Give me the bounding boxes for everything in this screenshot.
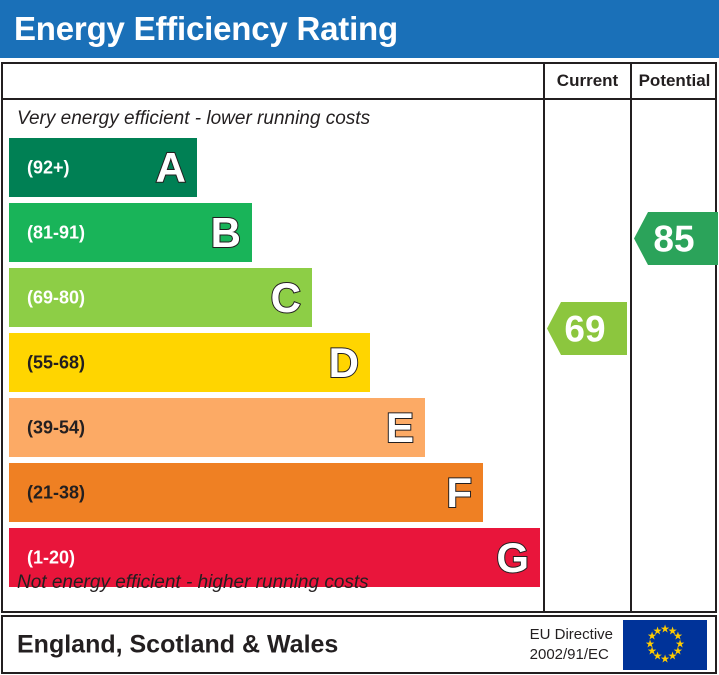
caption-top: Very energy efficient - lower running co… (17, 108, 370, 130)
footer-directive: EU Directive 2002/91/EC (530, 624, 613, 665)
eu-flag-icon: ★★★★★★★★★★★★ (623, 620, 707, 670)
energy-efficiency-rating-chart: Energy Efficiency Rating Current Potenti… (0, 0, 719, 675)
band-row-d: (55-68) D (9, 333, 370, 392)
band-row-a: (92+) A (9, 138, 197, 197)
potential-rating-value: 85 (634, 220, 714, 257)
current-rating-marker: 69 (547, 302, 627, 355)
chart-footer: England, Scotland & Wales EU Directive 2… (1, 615, 717, 674)
eu-flag-star: ★ (653, 626, 663, 637)
band-range-e: (39-54) (27, 417, 85, 438)
band-letter-g: G (496, 537, 529, 579)
band-row-e: (39-54) E (9, 398, 425, 457)
chart-title-bar: Energy Efficiency Rating (0, 0, 719, 58)
band-letter-f: F (446, 472, 472, 514)
caption-bottom: Not energy efficient - higher running co… (17, 572, 369, 594)
column-header-potential: Potential (632, 64, 717, 98)
band-range-c: (69-80) (27, 287, 85, 308)
footer-directive-line1: EU Directive (530, 624, 613, 644)
rating-table: Current Potential Very energy efficient … (1, 62, 717, 613)
band-row-b: (81-91) B (9, 203, 252, 262)
band-row-f: (21-38) F (9, 463, 483, 522)
footer-directive-line2: 2002/91/EC (530, 645, 613, 665)
page-title: Energy Efficiency Rating (14, 10, 398, 48)
band-range-g: (1-20) (27, 547, 75, 568)
band-letter-e: E (386, 407, 414, 449)
band-letter-b: B (211, 212, 241, 254)
band-letter-c: C (271, 277, 301, 319)
band-range-a: (92+) (27, 157, 70, 178)
column-divider-current (543, 64, 545, 611)
band-range-b: (81-91) (27, 222, 85, 243)
efficiency-scale: Very energy efficient - lower running co… (3, 100, 543, 613)
band-range-f: (21-38) (27, 482, 85, 503)
footer-region-label: England, Scotland & Wales (17, 630, 338, 659)
column-divider-potential (630, 64, 632, 611)
current-rating-value: 69 (547, 310, 623, 347)
band-letter-d: D (329, 342, 359, 384)
potential-rating-marker: 85 (634, 212, 718, 265)
column-header-current: Current (545, 64, 630, 98)
band-range-d: (55-68) (27, 352, 85, 373)
band-row-c: (69-80) C (9, 268, 312, 327)
band-letter-a: A (156, 147, 186, 189)
